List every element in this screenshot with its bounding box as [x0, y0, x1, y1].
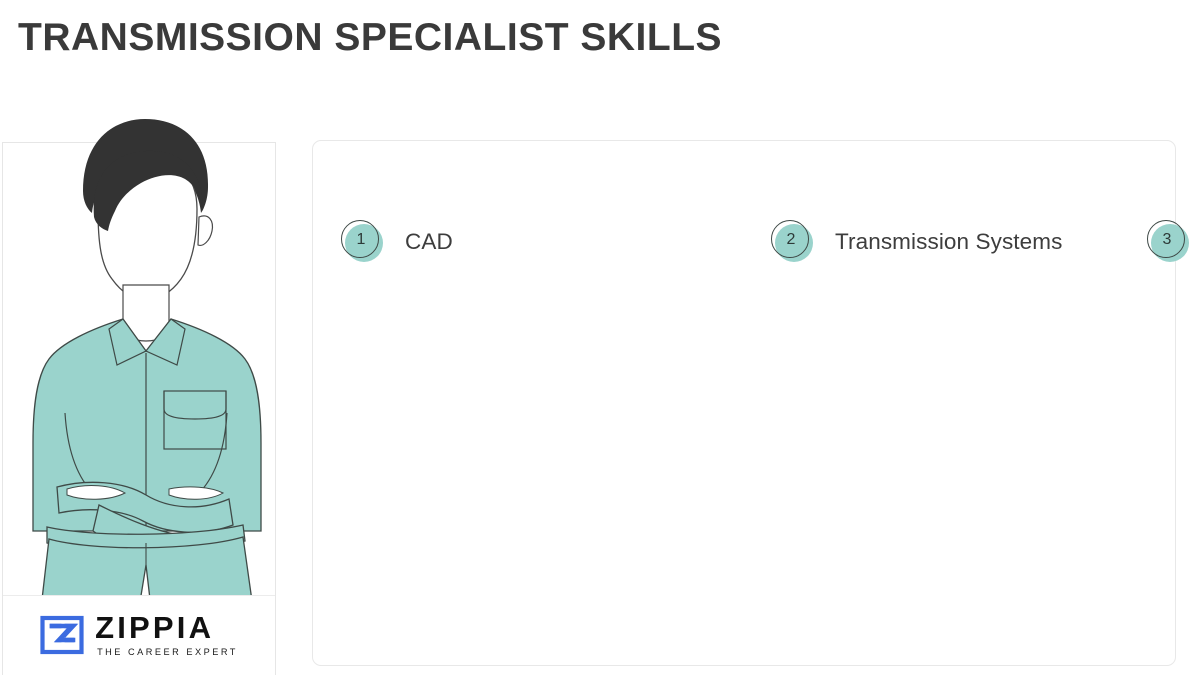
chest-pocket-icon [164, 391, 226, 449]
hand-left-icon [67, 486, 125, 500]
skill-number-badge: 1 [341, 220, 385, 264]
sleeve-left-crease-icon [65, 413, 91, 491]
skill-number-badge: 3 [1147, 220, 1191, 264]
zippia-z-mark-icon [40, 613, 84, 657]
crossed-arm-upper-icon [57, 482, 233, 532]
skill-label: Transmission Systems [835, 229, 1062, 255]
skill-item-2: 2 Transmission Systems [771, 193, 1147, 291]
zippia-logo: ZIPPIA THE CAREER EXPERT [3, 595, 275, 673]
skill-number: 2 [771, 220, 811, 260]
skill-item-3: 3 Automatic Transmissions [1147, 193, 1200, 291]
collar-left-icon [109, 319, 146, 365]
skill-item-1: 1 CAD [341, 193, 771, 291]
skill-label: CAD [405, 229, 453, 255]
person-illustration [5, 113, 277, 608]
neck-icon [123, 285, 169, 341]
pocket-flap-icon [164, 391, 226, 419]
skill-number: 3 [1147, 220, 1187, 260]
face-icon [98, 157, 197, 301]
waistband-icon [47, 525, 245, 550]
hair-back-icon [83, 119, 208, 213]
hand-right-icon [169, 487, 223, 499]
shirt-body-icon [33, 319, 261, 531]
crossed-arm-lower-icon [93, 505, 191, 565]
sleeve-right-crease-icon [201, 413, 227, 491]
collar-right-icon [146, 319, 185, 365]
infographic-page: TRANSMISSION SPECIALIST SKILLS [0, 0, 1200, 675]
hair-front-icon [94, 151, 203, 231]
zippia-wordmark: ZIPPIA [95, 612, 238, 643]
page-title: TRANSMISSION SPECIALIST SKILLS [18, 16, 722, 60]
zippia-logo-text: ZIPPIA THE CAREER EXPERT [95, 612, 238, 657]
skills-card: 1 CAD 2 Transmission Systems 3 Automa [312, 140, 1176, 666]
skill-number-badge: 2 [771, 220, 815, 264]
zippia-tagline: THE CAREER EXPERT [97, 648, 238, 657]
skills-list: 1 CAD 2 Transmission Systems 3 Automa [341, 193, 1147, 291]
skill-number: 1 [341, 220, 381, 260]
ear-icon [198, 216, 212, 245]
illustration-panel: ZIPPIA THE CAREER EXPERT [2, 142, 276, 675]
